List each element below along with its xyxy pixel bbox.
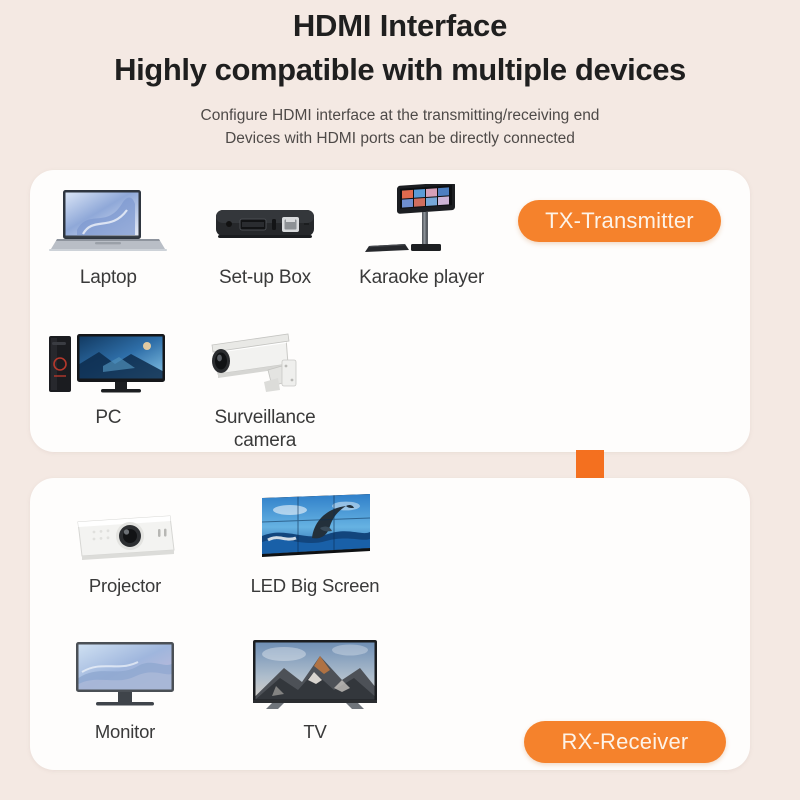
laptop-icon xyxy=(43,184,173,258)
device-label: Monitor xyxy=(95,720,155,743)
device-tv: TV xyxy=(220,624,410,770)
receiver-device-grid: Projector xyxy=(30,478,410,770)
device-label: Laptop xyxy=(80,266,137,289)
page-subtitle-line-2: Devices with HDMI ports can be directly … xyxy=(0,127,800,150)
page-subtitle-line-1: Configure HDMI interface at the transmit… xyxy=(0,104,800,127)
led-video-wall-icon xyxy=(250,492,380,566)
tv-icon xyxy=(250,638,380,712)
device-laptop: Laptop xyxy=(30,170,187,310)
device-set-top-box: Set-up Box xyxy=(187,170,344,310)
device-surveillance-camera: Surveillancecamera xyxy=(187,310,344,452)
monitor-icon xyxy=(60,638,190,712)
surveillance-camera-icon xyxy=(200,324,330,398)
page-subtitle: Configure HDMI interface at the transmit… xyxy=(0,104,800,150)
tx-transmitter-badge[interactable]: TX-Transmitter xyxy=(518,200,721,242)
device-projector: Projector xyxy=(30,478,220,624)
device-karaoke-player: Karaoke player xyxy=(343,170,500,310)
device-label: Projector xyxy=(89,574,161,597)
device-label: LED Big Screen xyxy=(251,574,380,597)
page-title-line-2: Highly compatible with multiple devices xyxy=(0,48,800,92)
rx-receiver-badge[interactable]: RX-Receiver xyxy=(524,721,726,763)
karaoke-player-icon xyxy=(357,184,487,258)
page-title-line-1: HDMI Interface xyxy=(0,6,800,46)
device-desktop-pc: PC xyxy=(30,310,187,452)
desktop-pc-icon xyxy=(43,324,173,398)
device-label: TV xyxy=(303,720,326,743)
device-label: Karaoke player xyxy=(359,266,484,289)
device-label: PC xyxy=(95,406,121,429)
device-led-video-wall: LED Big Screen xyxy=(220,478,410,624)
device-label: Surveillancecamera xyxy=(214,406,315,452)
grid-spacer xyxy=(343,310,500,452)
set-top-box-icon xyxy=(200,184,330,258)
device-label: Set-up Box xyxy=(219,266,311,289)
device-monitor: Monitor xyxy=(30,624,220,770)
page-header: HDMI Interface Highly compatible with mu… xyxy=(0,0,800,150)
transmitter-device-grid: Laptop xyxy=(30,170,500,452)
projector-icon xyxy=(60,492,190,566)
